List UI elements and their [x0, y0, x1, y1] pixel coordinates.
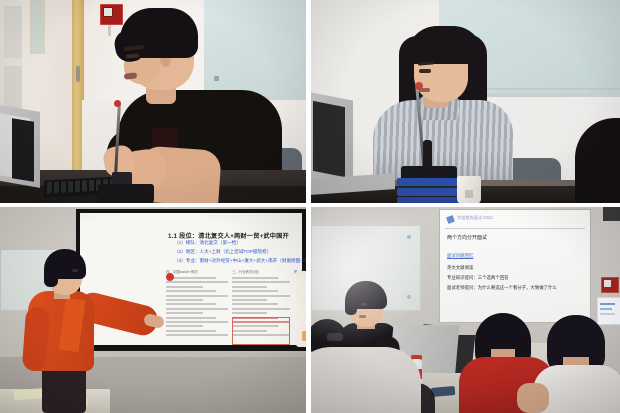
presenter-eye: [72, 269, 78, 272]
ceiling-speaker: [603, 207, 620, 221]
slide-line-1: 英文文献阅读: [447, 265, 473, 271]
whiteboard-mount-icon: [214, 76, 219, 81]
poster-line-2: [600, 308, 612, 310]
fire-alarm-button-icon: [604, 280, 611, 287]
photo-panel-bottom-left: 1.1 段位：清北复交人+两财一贸+武中国开 （1）梯队：清北复交（第一档） （…: [0, 207, 306, 413]
microphone-tip-icon: [114, 100, 121, 107]
slide-bullet-3: （3）专业：南财+对外经贸+中山+厦大+武大+南开（财富榜国一线，其他区域型院校…: [174, 258, 306, 264]
slide-highlight-box: [232, 317, 290, 345]
slide-title: 1.1 段位：清北复交人+两财一贸+武中国开: [168, 225, 306, 234]
laptop-screen: [313, 101, 345, 177]
subject-eye: [419, 69, 431, 73]
audience-member-grey-shirt: [311, 347, 421, 413]
photo-grid: 1.1 段位：清北复交人+两财一贸+武中国开 （1）梯队：清北复交（第一档） （…: [0, 0, 620, 413]
fire-alarm-button-icon: [103, 7, 113, 17]
slide-column-middle-header: 三、行业情况对比: [232, 269, 290, 274]
slide-subtitle: 两个方向分开面试: [447, 234, 487, 241]
slide-logo-icon: [166, 273, 174, 281]
cup-logo-icon: [465, 190, 473, 198]
wall-poster: [597, 297, 620, 325]
poster-line-3: [600, 313, 615, 315]
photo-panel-top-right: [311, 0, 620, 203]
slide-bullet-1: （1）梯队：清北复交（第一档）: [174, 240, 241, 246]
slide-section-heading: 面试问题回忆: [447, 253, 473, 259]
presenter-hair-side: [44, 265, 58, 287]
audience-member-white-arm: [517, 383, 549, 413]
door-handle: [76, 66, 80, 82]
slide-column-left-header: 四、中国banker 情况: [166, 269, 228, 274]
slide-divider: [445, 228, 585, 229]
monitor-bezel: [12, 118, 34, 181]
photo-panel-bottom-right: 学姐推免面试 2023 两个方向分开面试 面试问题回忆 英文文献阅读 专业知识提…: [311, 207, 620, 413]
whiteboard: [204, 0, 306, 101]
photo-panel-top-left: [0, 0, 306, 203]
slide-column-left: 四、中国banker 情况: [166, 269, 228, 347]
lens-haze: [311, 207, 431, 347]
slide-bullet-2: （2）地区：人大+上财（北上区域TOP级院校）: [174, 249, 271, 255]
microphone-stand-plate-top: [397, 178, 461, 186]
subject-hair-top: [407, 26, 483, 64]
microphone-tip-icon: [415, 82, 423, 90]
presenter-arm-left: [22, 306, 50, 372]
slide-title-text: 1.1 段位：清北复交人+两财一贸+武中国开: [168, 233, 289, 240]
grid-divider-horizontal: [0, 203, 620, 207]
slide-line-3: 面试老师提问：为什么要选这一个看分子，大致做了什么: [447, 285, 557, 291]
microphone-base: [98, 184, 154, 203]
slide-line-2: 专业知识提问：三个选两个回答: [447, 275, 508, 281]
microphone-stand-plate-mid: [397, 188, 461, 196]
slide-header: 学姐推免面试 2023: [457, 215, 493, 221]
door-window: [30, 0, 45, 54]
poster-line-1: [600, 303, 615, 305]
